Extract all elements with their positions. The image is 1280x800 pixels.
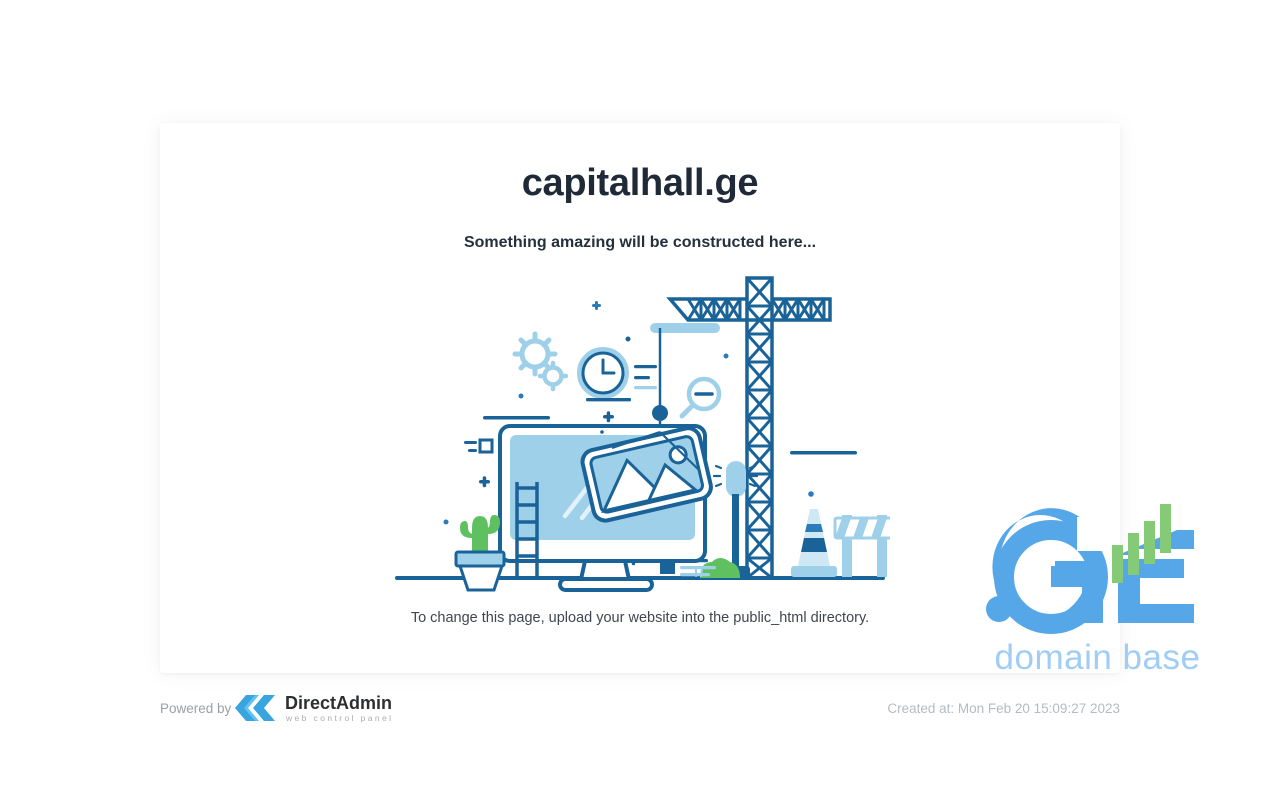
ge-letter-e-spine-icon (1118, 559, 1140, 623)
content-card: capitalhall.ge Something amazing will be… (160, 123, 1120, 673)
road-barrier-icon (835, 515, 890, 577)
dot-decor-icon (808, 491, 814, 497)
sparkle-decor-icon (603, 411, 614, 422)
page-subtitle: Something amazing will be constructed he… (464, 207, 816, 252)
dash-decor-icon (790, 451, 857, 455)
footer: Powered by Direct Admin web control pane… (160, 690, 1120, 730)
clock-line-icon (634, 376, 650, 379)
text-block-decor-icon (660, 559, 716, 576)
sparkle-decor-icon (479, 476, 490, 487)
page-root: capitalhall.ge Something amazing will be… (0, 0, 1280, 800)
dot-decor-icon (724, 353, 729, 358)
under-construction-illustration (390, 266, 890, 596)
directadmin-wordmark-admin: Admin (336, 693, 392, 713)
directadmin-logo[interactable]: Direct Admin web control panel (233, 690, 413, 726)
ge-letter-e-mid-icon (1118, 559, 1184, 578)
clock-icon (580, 350, 626, 396)
clock-underline-icon (586, 398, 631, 401)
sparkle-decor-icon (592, 301, 601, 310)
dot-decor-icon (626, 336, 631, 341)
traffic-cone-icon (791, 509, 837, 577)
gears-icon (515, 334, 566, 389)
dash-decor-icon (483, 416, 550, 420)
created-at-text: Created at: Mon Feb 20 15:09:27 2023 (887, 701, 1120, 716)
ge-letter-e-top-diagonal-icon (1118, 530, 1194, 555)
list-decor-icon (464, 440, 492, 452)
page-title: capitalhall.ge (522, 123, 759, 207)
dot-decor-icon (444, 519, 449, 524)
dot-decor-icon (519, 393, 524, 398)
clock-line-icon (634, 386, 657, 389)
directadmin-logo-svg: Direct Admin web control panel (233, 690, 413, 726)
powered-by-label: Powered by (160, 701, 231, 716)
directadmin-wordmark-direct: Direct (285, 693, 336, 713)
ge-letter-e-bottom-icon (1118, 604, 1194, 623)
crane-hook-ball-icon (652, 405, 668, 421)
cactus-plant-icon (456, 515, 504, 590)
card-inner: capitalhall.ge Something amazing will be… (160, 123, 1120, 673)
directadmin-tagline: web control panel (285, 713, 393, 723)
magnifier-icon (682, 379, 719, 416)
clock-line-icon (634, 365, 657, 368)
ge-growth-bars-icon (1112, 504, 1171, 583)
illustration-svg (390, 266, 890, 596)
upload-hint-text: To change this page, upload your website… (411, 596, 869, 626)
